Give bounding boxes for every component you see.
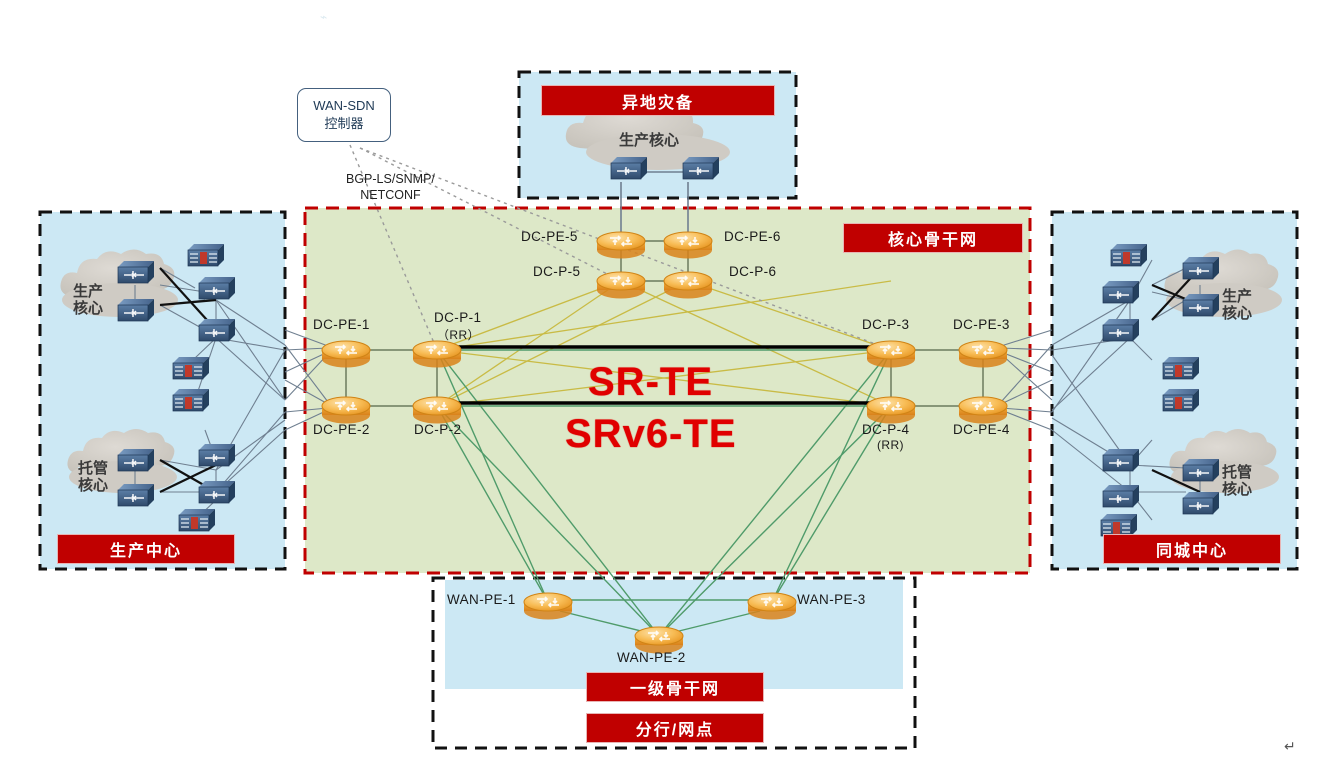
router-label-dc-pe-3: DC-PE-3: [953, 317, 1010, 332]
controller-subtitle: 控制器: [324, 115, 363, 133]
router-label-dc-p-6: DC-P-6: [729, 264, 776, 279]
router-dc-pe-1: [322, 341, 370, 368]
pilcrow-mark: ↵: [1284, 738, 1296, 755]
router-label-dc-p-1: DC-P-1: [434, 310, 481, 325]
network-topology-diagram: WAN-SDN 控制器 BGP-LS/SNMP/ NETCONF 异地灾备 核心…: [0, 0, 1338, 783]
cloud-label-right-production-core: 生产 核心: [1222, 288, 1252, 323]
banner-remote-dr: 异地灾备: [541, 85, 775, 116]
router-label-dc-p-2: DC-P-2: [414, 422, 461, 437]
router-label-dc-pe-2: DC-PE-2: [313, 422, 370, 437]
banner-branch-outlets: 分行/网点: [586, 713, 764, 743]
controller-title: WAN-SDN: [313, 97, 375, 115]
router-dc-pe-5: [597, 232, 645, 259]
router-label-dc-p-4: DC-P-4: [862, 422, 909, 437]
router-dc-p-1: [413, 341, 461, 368]
wan-sdn-controller-box[interactable]: WAN-SDN 控制器: [297, 88, 391, 142]
router-wan-pe-1: [524, 593, 572, 620]
router-dc-pe-2: [322, 397, 370, 424]
router-dc-p-4: [867, 397, 915, 424]
router-dc-p-2: [413, 397, 461, 424]
banner-core-backbone: 核心骨干网: [843, 223, 1023, 253]
router-label-wan-pe-1: WAN-PE-1: [447, 592, 516, 607]
cloud-label-right-hosting-core: 托管 核心: [1222, 464, 1252, 499]
label-srv6-te: SRv6-TE: [565, 412, 737, 457]
top-artifact: ⌁: [320, 10, 327, 24]
label-sr-te: SR-TE: [588, 360, 713, 405]
router-label-dc-p-4-rr: (RR): [877, 438, 904, 452]
banner-same-city-center: 同城中心: [1103, 534, 1281, 564]
router-label-wan-pe-2: WAN-PE-2: [617, 650, 686, 665]
router-dc-pe-6: [664, 232, 712, 259]
router-label-dc-p-5: DC-P-5: [533, 264, 580, 279]
router-label-dc-pe-1: DC-PE-1: [313, 317, 370, 332]
banner-production-center: 生产中心: [57, 534, 235, 564]
router-dc-p-6: [664, 272, 712, 299]
cloud-label-dr-production-core: 生产核心: [619, 132, 679, 149]
router-label-dc-pe-4: DC-PE-4: [953, 422, 1010, 437]
router-wan-pe-3: [748, 593, 796, 620]
router-dc-pe-3: [959, 341, 1007, 368]
banner-primary-backbone: 一级骨干网: [586, 672, 764, 702]
router-dc-pe-4: [959, 397, 1007, 424]
control-protocol-label: BGP-LS/SNMP/ NETCONF: [346, 172, 435, 203]
router-label-wan-pe-3: WAN-PE-3: [797, 592, 866, 607]
router-dc-p-5: [597, 272, 645, 299]
router-label-dc-p-1-rr: （RR）: [437, 326, 480, 343]
router-label-dc-p-3: DC-P-3: [862, 317, 909, 332]
cloud-label-left-production-core: 生产 核心: [73, 283, 103, 318]
router-label-dc-pe-5: DC-PE-5: [521, 229, 578, 244]
router-dc-p-3: [867, 341, 915, 368]
router-label-dc-pe-6: DC-PE-6: [724, 229, 781, 244]
cloud-label-left-hosting-core: 托管 核心: [78, 460, 108, 495]
